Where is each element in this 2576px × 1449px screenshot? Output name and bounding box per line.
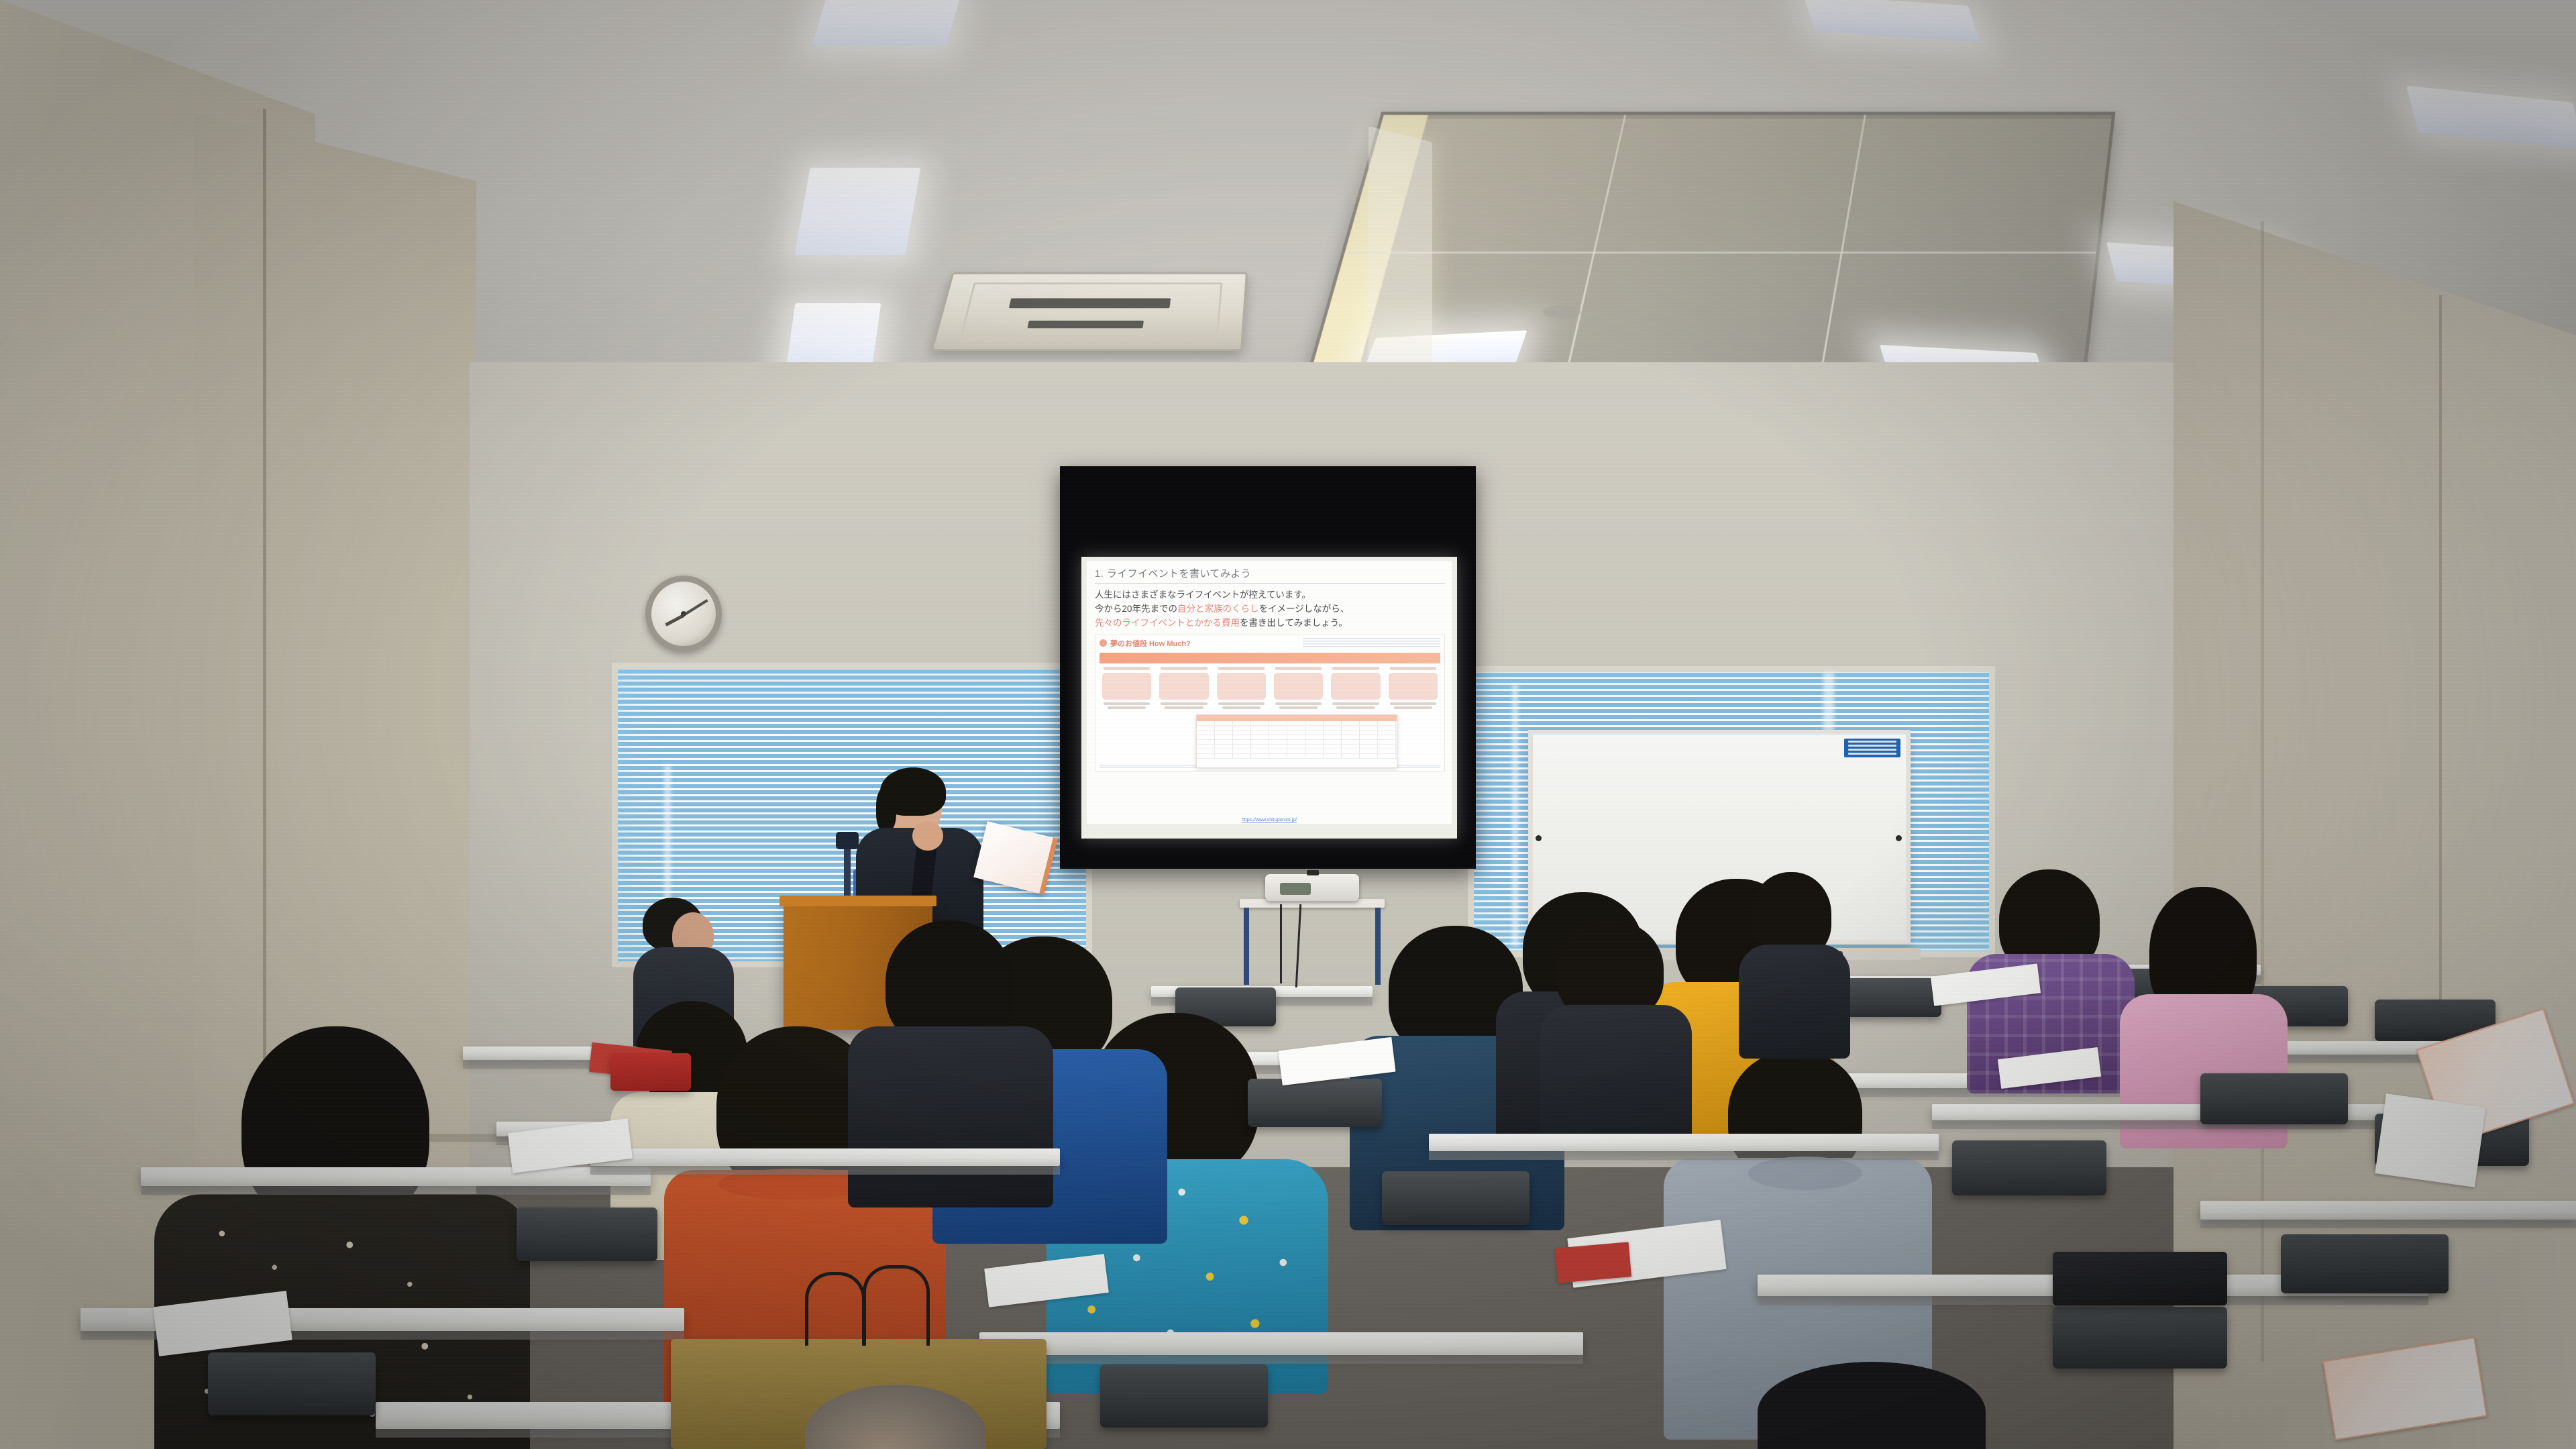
- card-bullet-icon: [1099, 639, 1107, 647]
- backright-top: [1540, 1005, 1692, 1143]
- slide-content: 1. ライフイベントを書いてみよう 人生にはさまざまなライフイベントが控えていま…: [1087, 561, 1452, 824]
- handout-leaflet-upright-2[interactable]: [2375, 1093, 2485, 1187]
- desk-row-3-far: [1932, 1104, 2428, 1120]
- clock-hand-minute: [683, 599, 708, 616]
- slide-source-link: https://www.shiruporuto.jp/: [1087, 818, 1452, 822]
- card-column: [1099, 667, 1154, 709]
- chair-row-3-b[interactable]: [1382, 1171, 1529, 1225]
- desk-row-4-center: [979, 1332, 1583, 1355]
- blind-light-streak-right: [1512, 684, 1518, 946]
- slide-table-overlay: [1196, 714, 1397, 768]
- backright2-top: [1739, 945, 1850, 1059]
- slide-line-3-highlight: 先々のライフイベントとかかる費用: [1095, 618, 1240, 628]
- presenter-hand: [912, 821, 943, 851]
- projector-indicator-icon: [1307, 870, 1319, 875]
- ac-unit-1: [931, 272, 1248, 351]
- card-columns: [1095, 665, 1444, 711]
- blue-notice-label: [1844, 739, 1900, 757]
- whiteboard-magnet-right: [1896, 835, 1902, 841]
- card-column: [1386, 667, 1440, 709]
- chair-row-4-d[interactable]: [2281, 1234, 2449, 1293]
- gray-jacket-collar: [1748, 1157, 1862, 1190]
- projector-lens-icon: [1280, 883, 1311, 895]
- presenter-hair-side: [876, 788, 896, 832]
- chair-row-3-c[interactable]: [1952, 1140, 2106, 1195]
- ceiling-light-1: [812, 0, 961, 46]
- chair-row-4-a[interactable]: [208, 1352, 376, 1415]
- slide-title: 1. ライフイベントを書いてみよう: [1095, 566, 1445, 584]
- projector-cable-1: [1280, 904, 1282, 983]
- projector-table: [1240, 899, 1385, 985]
- red-booklet-1[interactable]: [1555, 1242, 1631, 1283]
- blind-light-streak-left: [664, 765, 671, 906]
- microphone-stand-head-icon: [836, 832, 859, 849]
- black-bag-right: [2053, 1252, 2227, 1305]
- chair-row-4-c[interactable]: [2053, 1307, 2227, 1368]
- card-accent-bar: [1099, 653, 1440, 663]
- podium-top-surface: [780, 896, 936, 906]
- chair-row-4-b[interactable]: [1100, 1364, 1268, 1428]
- smoke-detector-1: [1543, 305, 1580, 319]
- slide-line-2b: をイメージしながら、: [1259, 604, 1350, 614]
- slide-line-1: 人生にはさまざまなライフイベントが控えています。: [1095, 590, 1311, 600]
- desk-row-5-right: [2200, 1201, 2576, 1220]
- slide-line-2a: 今から20年先までの: [1095, 604, 1177, 614]
- wall-seam-right-2: [2261, 221, 2264, 1362]
- seminar-room-photo: 1. ライフイベントを書いてみよう 人生にはさまざまなライフイベントが控えていま…: [0, 0, 2576, 1449]
- card-column: [1157, 667, 1211, 709]
- chair-row-2-b[interactable]: [2200, 1073, 2348, 1124]
- wall-seam-right: [2439, 295, 2442, 1087]
- desk-row-3-right: [1429, 1134, 1939, 1151]
- card-column: [1271, 667, 1326, 709]
- card-title: 夢のお値段 How Much?: [1110, 638, 1191, 649]
- chair-row-3-a[interactable]: [517, 1207, 657, 1261]
- whiteboard-magnet-left: [1536, 835, 1542, 841]
- bag-strap-right: [863, 1265, 930, 1346]
- slide-reference-card: 夢のお値段 How Much?: [1095, 635, 1445, 772]
- chair-far-2[interactable]: [1834, 978, 1941, 1017]
- ceiling-light-2: [795, 168, 921, 255]
- chair-row-2-a[interactable]: [1248, 1079, 1382, 1127]
- wall-clock: [645, 576, 722, 652]
- slide-line-3: を書き出してみましょう。: [1240, 618, 1348, 628]
- projection-screen: 1. ライフイベントを書いてみよう 人生にはさまざまなライフイベントが控えていま…: [1081, 557, 1457, 839]
- slide-line-2-highlight: 自分と家族のくらし: [1177, 604, 1259, 614]
- card-column: [1214, 667, 1269, 709]
- clock-center-pin: [681, 611, 686, 616]
- dark-coat: [848, 1026, 1053, 1207]
- slide-body: 人生にはさまざまなライフイベントが控えています。 今から20年先までの自分と家族…: [1095, 588, 1445, 631]
- card-note-lines: [1303, 638, 1440, 648]
- projector[interactable]: [1265, 874, 1359, 901]
- red-bag-left: [610, 1053, 691, 1091]
- bag-strap-left: [805, 1272, 865, 1346]
- desk-row-3-center: [590, 1148, 1060, 1166]
- desk-row-3-left: [141, 1167, 651, 1186]
- card-column: [1328, 667, 1383, 709]
